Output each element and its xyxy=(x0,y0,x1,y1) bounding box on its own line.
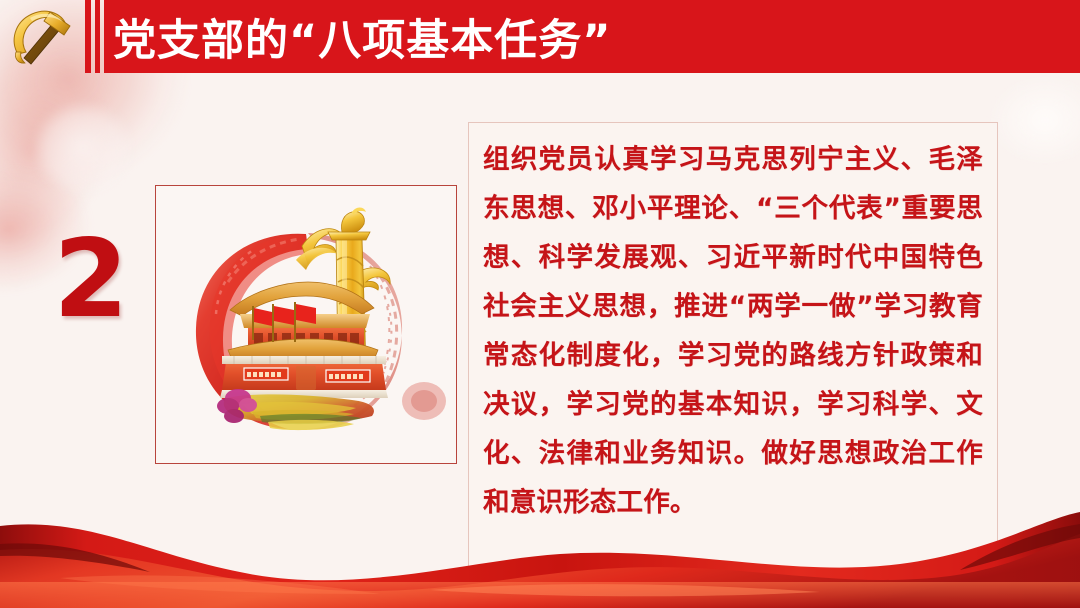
illustration-frame xyxy=(155,185,457,464)
header-accent-bar-inner xyxy=(95,0,100,73)
cpc-party-emblem xyxy=(4,2,78,72)
tiananmen-gate-illustration xyxy=(156,186,456,463)
pink-watercolor-highlight xyxy=(18,88,148,208)
slide-canvas: 党支部的“八项基本任务” xyxy=(0,0,1080,608)
item-number: 2 xyxy=(36,226,146,334)
header-accent-bar-outer xyxy=(85,0,91,73)
body-text-card: 组织党员认真学习马克思列宁主义、毛泽东思想、邓小平理论、“三个代表”重要思想、科… xyxy=(468,122,998,580)
page-title: 党支部的“八项基本任务” xyxy=(113,0,612,73)
body-paragraph: 组织党员认真学习马克思列宁主义、毛泽东思想、邓小平理论、“三个代表”重要思想、科… xyxy=(483,135,983,527)
